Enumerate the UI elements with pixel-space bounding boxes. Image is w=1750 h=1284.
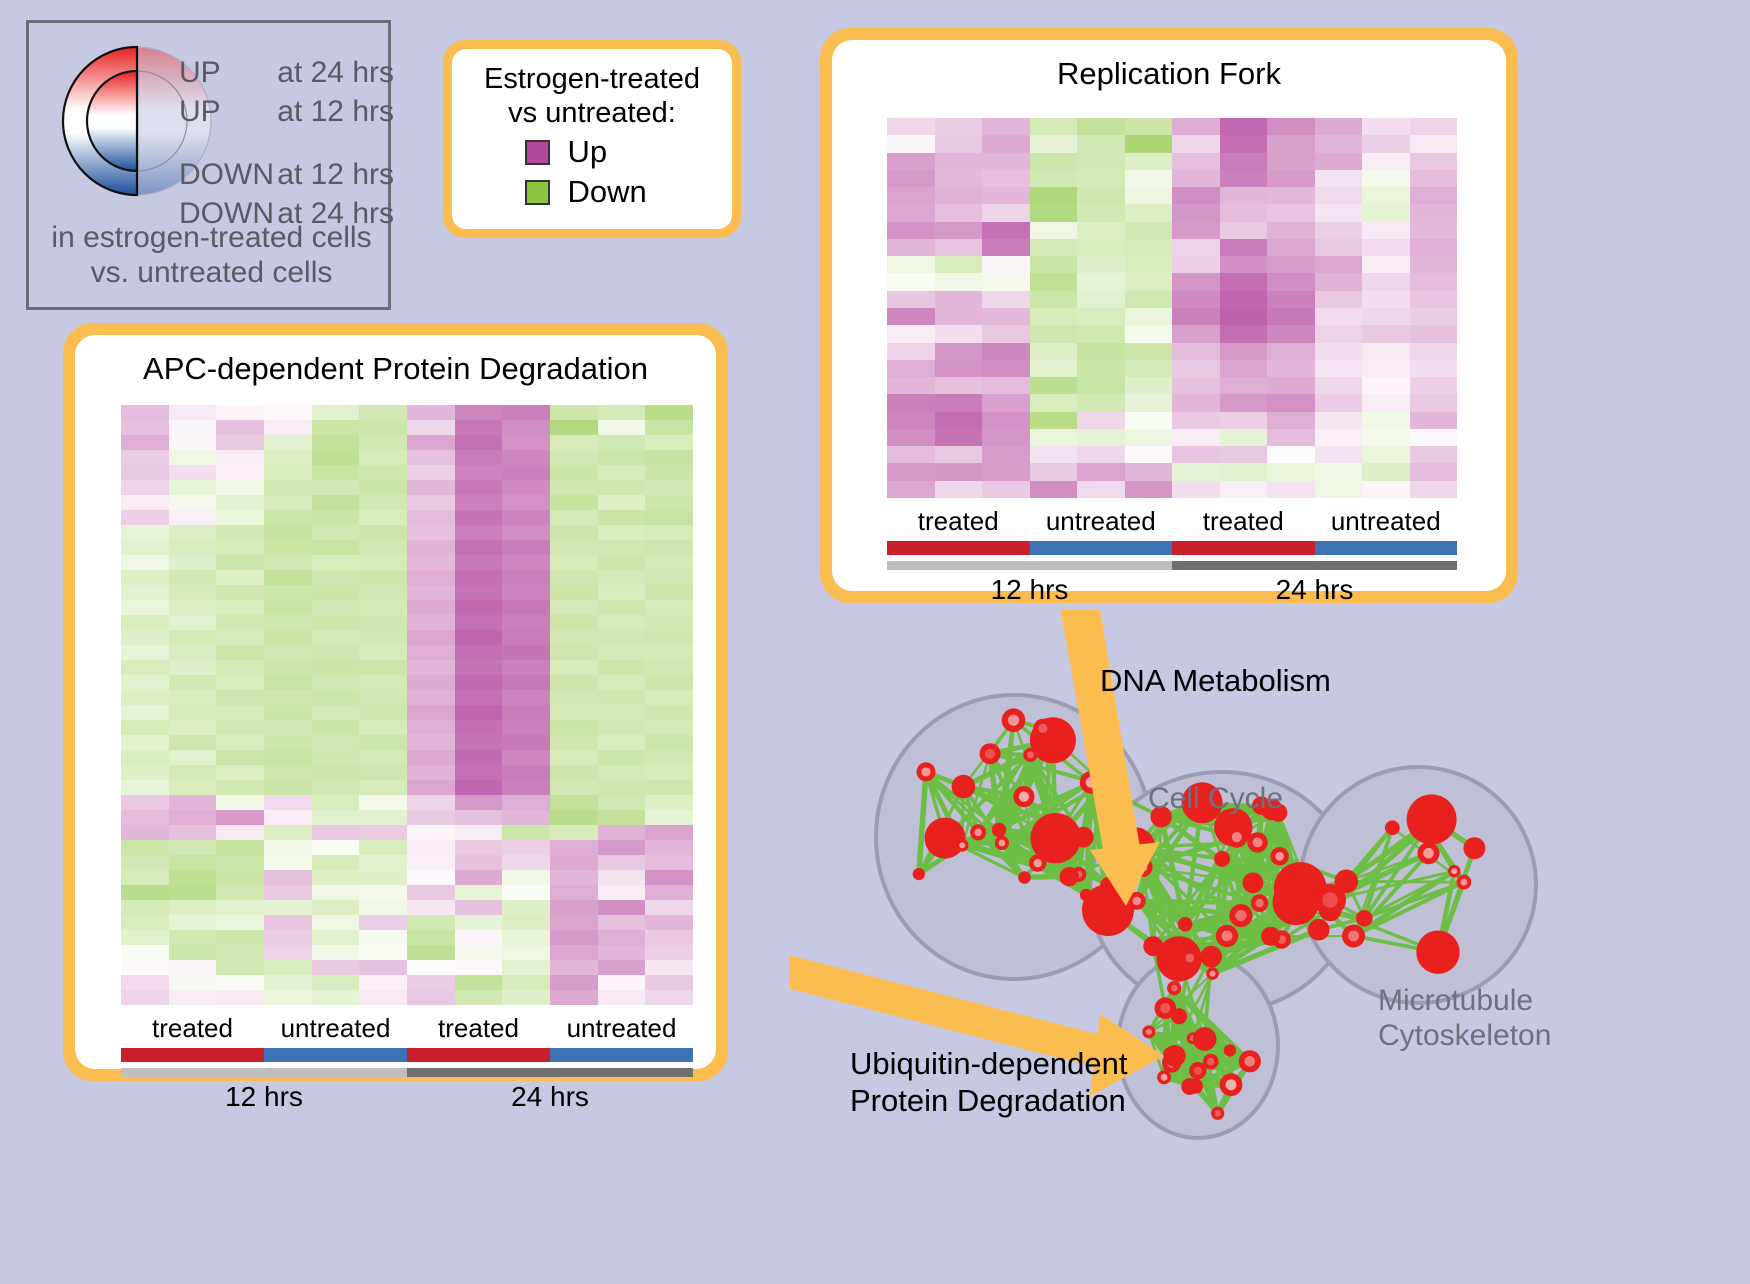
heatmap-cell [121,870,169,885]
heatmap-cell [1362,394,1410,411]
heatmap-cell [359,945,407,960]
heatmap-cell [887,239,935,256]
heatmap-cell [502,975,550,990]
heatmap-cell [216,780,264,795]
heatmap-cell [1172,222,1220,239]
node-outer-ring [1060,867,1079,886]
heatmap-cell [1125,412,1173,429]
heatmap-cell [121,735,169,750]
network-node[interactable] [1073,827,1094,848]
heatmap-cell [216,750,264,765]
node-inner-fill [1423,848,1434,859]
network-node[interactable] [1181,949,1199,967]
heatmap-cell [359,855,407,870]
network-node[interactable] [1270,847,1288,865]
heatmap-cell [935,135,983,152]
heatmap-cell [550,495,598,510]
heatmap-cell [550,600,598,615]
heatmap-cell [359,510,407,525]
network-node[interactable] [1200,946,1222,968]
heatmap-cell [264,450,312,465]
heatmap-cell [264,735,312,750]
heatmap-cell [502,870,550,885]
network-node[interactable] [1214,851,1230,867]
heatmap-cell [1410,170,1458,187]
heatmap-cell [455,525,503,540]
node-inner-fill [985,749,995,759]
heatmap-cell [1172,187,1220,204]
heatmap-cell [264,795,312,810]
node-outer-ring [1073,827,1094,848]
node-outer-ring [1463,837,1485,859]
heatmap-cell [598,795,646,810]
heatmap-cell [264,885,312,900]
heatmap-cell [1172,256,1220,273]
heatmap-cell [1267,325,1315,342]
network-node[interactable] [1416,931,1459,974]
network-node[interactable] [1229,904,1252,927]
heatmap-cell [264,930,312,945]
heatmap-cell [169,870,217,885]
heatmap-cell [598,525,646,540]
heatmap-cell [264,810,312,825]
heatmap-cell [550,765,598,780]
heatmap-cell [1077,343,1125,360]
heatmap-cell [550,990,598,1005]
node-inner-fill [1027,752,1034,759]
heatmap-cell [264,825,312,840]
heatmap-cell [264,585,312,600]
heatmap-cell [407,630,455,645]
heatmap-cell [455,465,503,480]
heatmap-cell [598,615,646,630]
treatment-color-bar-rf [887,541,1457,555]
heatmap-cell [169,660,217,675]
heatmap-cell [312,435,360,450]
heatmap-cell [121,495,169,510]
heatmap-cell [598,675,646,690]
heatmap-cell [455,900,503,915]
network-node[interactable] [952,775,976,799]
heatmap-cell [502,465,550,480]
heatmap-cell [216,945,264,960]
heatmap-cell [1077,291,1125,308]
network-node[interactable] [1243,872,1264,893]
heatmap-cell [550,660,598,675]
heatmap-cell [359,435,407,450]
bar-untreated-12 [264,1048,407,1062]
heatmap-cell [1077,360,1125,377]
network-node[interactable] [1188,1079,1203,1094]
heatmap-cell [550,540,598,555]
network-node[interactable] [995,836,1009,850]
heatmap-cell [1030,222,1078,239]
heatmap-cell [1315,291,1363,308]
heatmap-cell [264,555,312,570]
heatmap-cell [216,720,264,735]
network-node[interactable] [1418,842,1440,864]
heatmap-cell [359,450,407,465]
network-node[interactable] [917,762,936,781]
network-node[interactable] [1224,1044,1236,1056]
network-node[interactable] [980,743,1001,764]
heatmap-cell [407,705,455,720]
heatmap-cell [887,343,935,360]
heatmap-cell [502,750,550,765]
label-cell-cycle: Cell Cycle [1148,782,1283,816]
heatmap-cell [407,960,455,975]
heatmap-cell [1030,187,1078,204]
heatmap-cell [264,960,312,975]
node-inner-fill [1034,859,1042,867]
network-node[interactable] [1261,927,1280,946]
heatmap-cell [264,750,312,765]
node-outer-ring [1193,1027,1217,1051]
heatmap-cell [1125,481,1173,498]
heatmap-cell [1172,377,1220,394]
heatmap-cell [407,450,455,465]
network-node[interactable] [1155,997,1177,1019]
heatmap-cell [982,239,1030,256]
heatmap-cell [645,795,693,810]
network-node[interactable] [1342,925,1365,948]
network-node[interactable] [1018,871,1031,884]
heatmap-cell [216,675,264,690]
network-node[interactable] [1167,981,1181,995]
network-node[interactable] [956,839,969,852]
heatmap-cell [312,465,360,480]
network-node[interactable] [1142,1025,1155,1038]
heatmap-cell [598,750,646,765]
heatmap-cell [1125,429,1173,446]
heatmap-cell [982,118,1030,135]
network-node[interactable] [1206,967,1219,980]
network-node[interactable] [970,824,986,840]
heatmap-cell [264,915,312,930]
network-node[interactable] [1314,884,1346,916]
heatmap-cell [407,585,455,600]
heatmap-cell [550,840,598,855]
heatmap-cell [1077,239,1125,256]
heatmap-cell [645,870,693,885]
heatmap-cell [1125,239,1173,256]
heatmap-cell [550,450,598,465]
heatmap-cell [359,645,407,660]
network-node[interactable] [1385,820,1400,835]
heatmap-cell [1362,429,1410,446]
heatmap-cell [264,570,312,585]
network-node[interactable] [1308,919,1330,941]
network-node[interactable] [1296,905,1311,920]
heatmap-cell [264,420,312,435]
heatmap-cell [169,645,217,660]
heatmap-cell [502,885,550,900]
heatmap-cell [550,555,598,570]
heatmap-cell [169,945,217,960]
heatmap-cell [216,405,264,420]
heatmap-cell [502,780,550,795]
network-node[interactable] [1239,1050,1261,1072]
heatmap-cell [359,480,407,495]
heatmap-cell [312,525,360,540]
heatmap-cell [1410,222,1458,239]
network-node[interactable] [1193,1027,1217,1051]
heatmap-cell [645,930,693,945]
network-node[interactable] [1251,894,1269,912]
heatmap-cell [550,705,598,720]
heatmap-cell [264,600,312,615]
heatmap-cell [1362,204,1410,221]
heatmap-cell [264,705,312,720]
network-node[interactable] [1029,854,1046,871]
heatmap-cell [264,900,312,915]
heatmap-cell [502,555,550,570]
heatmap-cell [1077,118,1125,135]
heatmap-cell [1030,360,1078,377]
network-node[interactable] [1023,748,1037,762]
heatmap-cell [645,960,693,975]
heatmap-cell [121,420,169,435]
heatmap-cell [598,975,646,990]
heatmap-cell [169,750,217,765]
heatmap-cell [1362,412,1410,429]
heatmap-cell [216,975,264,990]
heatmap-cell [169,825,217,840]
network-node[interactable] [1033,719,1052,738]
heatmap-cell [455,420,503,435]
heatmap-cell [1030,170,1078,187]
heatmap-cell [887,135,935,152]
heatmap-cell [455,600,503,615]
heatmap-cell [121,630,169,645]
heatmap-cell [1410,463,1458,480]
heatmap-cell [455,810,503,825]
heatmap-cell [121,975,169,990]
heatmap-cell [455,480,503,495]
heatmap-cell [264,780,312,795]
heatmap-cell [407,435,455,450]
network-node[interactable] [1060,867,1079,886]
network-node[interactable] [1226,827,1247,848]
heatmap-cell [407,780,455,795]
heatmap-cell [502,420,550,435]
heatmap-cell [359,540,407,555]
heatmap-cell [169,690,217,705]
heatmap-cell [312,480,360,495]
heatmap-cell [502,480,550,495]
heatmap-cell [887,481,935,498]
network-node[interactable] [1415,815,1439,839]
heatmap-cell [1267,273,1315,290]
heatmap-cell [598,585,646,600]
heatmap-cell [216,810,264,825]
heatmap-cell [1220,239,1268,256]
node-inner-fill [1146,1029,1152,1035]
heatmap-cell [598,405,646,420]
heatmap-cell [1220,481,1268,498]
heatmap-cell [216,555,264,570]
heatmap-cell [407,720,455,735]
heatmap-cell [216,960,264,975]
heatmap-cell [359,570,407,585]
network-node[interactable] [1448,865,1460,877]
heatmap-cell [1172,446,1220,463]
direction-label: DOWN [179,158,277,192]
network-node[interactable] [1178,917,1193,932]
heatmap-cell [1267,481,1315,498]
heatmap-cell [887,153,935,170]
heatmap-cell [598,690,646,705]
node-outer-ring [1415,815,1439,839]
heatmap-cell [312,900,360,915]
heatmap-cell [1315,239,1363,256]
heatmap-cell [407,690,455,705]
heatmap-cell [312,735,360,750]
heatmap-cell [1315,273,1363,290]
heatmap-cell [550,630,598,645]
heatmap-cell [887,204,935,221]
node-inner-fill [1460,879,1467,886]
heatmap-cell [1077,429,1125,446]
heatmap-cell [407,750,455,765]
heatmap-cell [216,435,264,450]
heatmap-cell [1077,446,1125,463]
heatmap-cell [550,780,598,795]
node-outer-ring [1200,946,1222,968]
heatmap-cell [312,420,360,435]
heatmap-cell [1410,256,1458,273]
heatmap-cell [935,463,983,480]
bar-untreated-12 [1030,541,1173,555]
heatmap-cell [935,446,983,463]
panel-title-apc: APC-dependent Protein Degradation [75,335,716,387]
heatmap-cell [359,630,407,645]
heatmap-cell [1410,360,1458,377]
heatmap-cell [502,720,550,735]
network-node[interactable] [1247,832,1267,852]
heatmap-cell [359,780,407,795]
heatmap-cell [216,885,264,900]
heatmap-cell [216,420,264,435]
heatmap-cell [1125,170,1173,187]
node-inner-fill [1322,892,1337,907]
node-inner-fill [1038,724,1047,733]
heatmap-cell [1077,481,1125,498]
heatmap-cell [121,525,169,540]
heatmap-cell [121,540,169,555]
network-node[interactable] [1211,1107,1224,1120]
heatmap-cell [1220,222,1268,239]
network-node[interactable] [1143,936,1163,956]
heatmap-cell [121,600,169,615]
network-node[interactable] [913,868,925,880]
heatmap-cell [887,256,935,273]
heatmap-cell [502,495,550,510]
heatmap-cell [887,187,935,204]
heatmap-cell [982,394,1030,411]
heatmap-cell [121,570,169,585]
heatmap-cell [982,222,1030,239]
heatmap-cell [1267,412,1315,429]
time-group-labels-apc: 12 hrs 24 hrs [121,1081,693,1113]
heatmap-cell [121,840,169,855]
heatmap-cell [121,810,169,825]
heatmap-cell [407,855,455,870]
heatmap-cell [1410,481,1458,498]
heatmap-cell [1362,135,1410,152]
heatmap-cell [982,429,1030,446]
heatmap-cell [645,780,693,795]
heatmap-cell [598,885,646,900]
network-node[interactable] [1157,1070,1171,1084]
node-inner-fill [1232,832,1242,842]
network-node[interactable] [1220,1073,1243,1096]
heatmap-cell [550,405,598,420]
node-outer-ring [1178,917,1193,932]
network-node[interactable] [1457,875,1472,890]
node-inner-fill [1451,868,1457,874]
node-outer-ring [1243,872,1264,893]
time-label: at 24 hrs [277,56,394,90]
heatmap-cell [1267,187,1315,204]
heatmap-cell [264,480,312,495]
network-node[interactable] [1463,837,1485,859]
heatmap-cell [982,308,1030,325]
heatmap-cell [502,600,550,615]
heatmap-cell [1220,170,1268,187]
heatmap-cell [359,750,407,765]
updown-legend-box: Estrogen-treated vs untreated: Up Down [443,40,741,238]
heatmap-cell [359,900,407,915]
heatmap-cell [216,480,264,495]
node-inner-fill [1253,838,1263,848]
heatmap-cell [1077,222,1125,239]
heatmap-cell [216,540,264,555]
network-node[interactable] [1356,910,1373,927]
heatmap-cell [645,750,693,765]
network-node[interactable] [1164,1045,1186,1067]
node-inner-fill [1235,910,1246,921]
heatmap-cell [407,765,455,780]
heatmap-cell [1362,170,1410,187]
network-node[interactable] [992,823,1006,837]
heatmap-cell [1125,446,1173,463]
heatmap-cell [1410,308,1458,325]
heatmap-cell [1220,204,1268,221]
heatmap-cell [502,735,550,750]
heatmap-cell [1410,135,1458,152]
heatmap-cell [502,675,550,690]
heatmap-cell [359,990,407,1005]
network-node[interactable] [1002,708,1026,732]
heatmap-cell [935,187,983,204]
heatmap-cell [1030,394,1078,411]
heatmap-cell [550,525,598,540]
network-node[interactable] [1216,925,1238,947]
heatmap-cell [598,945,646,960]
network-node[interactable] [1013,786,1034,807]
network-node[interactable] [1203,1054,1219,1070]
heatmap-cell [550,855,598,870]
col-label-treated-12: treated [121,1013,264,1044]
heatmap-cell [935,325,983,342]
direction-label: UP [179,95,277,129]
network-node[interactable] [925,818,966,859]
heatmap-cell [502,915,550,930]
heatmap-cell [216,690,264,705]
heatmap-cell [169,480,217,495]
heatmap-cell [645,480,693,495]
